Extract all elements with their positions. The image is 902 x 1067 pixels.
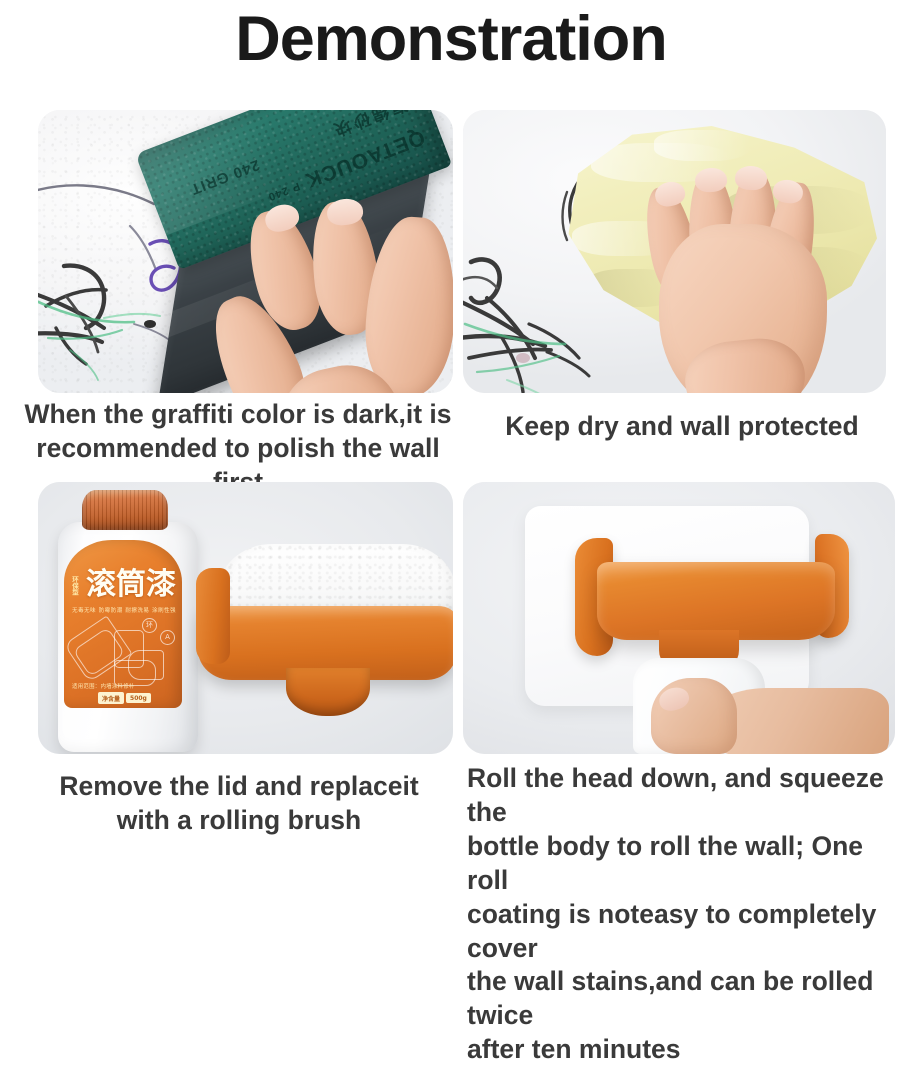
label-net-weight: 净含量 500g [98, 692, 151, 704]
label-badge-eco: 环 [142, 618, 157, 633]
label-sub-left-text: 环保型 [70, 576, 77, 596]
label-feature: 耐擦洗易 [125, 606, 149, 614]
step-4-photo [463, 482, 895, 754]
caption-line: the wall stains,and can be rolled twice [467, 965, 897, 1033]
label-main-text: 滚筒漆 [86, 570, 176, 600]
bottle-cap [82, 490, 168, 530]
label-illustration: 环 A [70, 616, 176, 688]
caption-line: Remove the lid and replaceit [18, 770, 460, 804]
step-1-photo: QETAOUCK 海绵砂块 240 GRIT P 240 [38, 110, 453, 393]
hand [217, 199, 453, 393]
caption-line: coating is noteasy to completely cover [467, 898, 897, 966]
roller-frame [597, 562, 835, 640]
roller-neck [286, 668, 370, 716]
roller-brush-head [190, 540, 453, 736]
label-features: 无毒无味 防霉防潮 耐擦洗易 涂刷性强 [72, 606, 176, 614]
roller-arm [196, 568, 230, 664]
label-feature: 无毒无味 [72, 606, 96, 614]
caption-line: Roll the head down, and squeeze the [467, 762, 897, 830]
caption-line: after ten minutes [467, 1033, 897, 1067]
sponge-grit-text: 240 GRIT [188, 156, 262, 198]
label-feature: 防霉防潮 [99, 606, 123, 614]
paint-bottle: 环保型 滚筒漆 无毒无味 防霉防潮 耐擦洗易 涂刷性强 环 A 适用范围：内墙涂… [52, 490, 204, 752]
label-badge-grade: A [160, 630, 175, 645]
thumb [651, 678, 737, 754]
step-3-photo: 环保型 滚筒漆 无毒无味 防霉防潮 耐擦洗易 涂刷性强 环 A 适用范围：内墙涂… [38, 482, 453, 754]
net-weight-label: 净含量 [98, 692, 124, 704]
caption-line: with a rolling brush [18, 804, 460, 838]
label-feature: 涂刷性强 [152, 606, 176, 614]
caption-line: bottle body to roll the wall; One roll [467, 830, 897, 898]
step-4-caption: Roll the head down, and squeeze the bott… [467, 762, 897, 1067]
label-bottom-text: 适用范围：内墙涂料修补 [72, 682, 135, 690]
step-2-caption: Keep dry and wall protected [462, 410, 902, 444]
page-title: Demonstration [0, 8, 902, 71]
net-weight-value: 500g [126, 693, 151, 703]
step-3-caption: Remove the lid and replaceit with a roll… [18, 770, 460, 838]
caption-line: When the graffiti color is dark,it is [18, 398, 458, 432]
roller-applicator [575, 534, 849, 674]
caption-line: Keep dry and wall protected [462, 410, 902, 444]
step-2-photo [463, 110, 886, 393]
hand [581, 154, 871, 393]
bottle-label: 环保型 滚筒漆 无毒无味 防霉防潮 耐擦洗易 涂刷性强 环 A 适用范围：内墙涂… [64, 540, 182, 708]
